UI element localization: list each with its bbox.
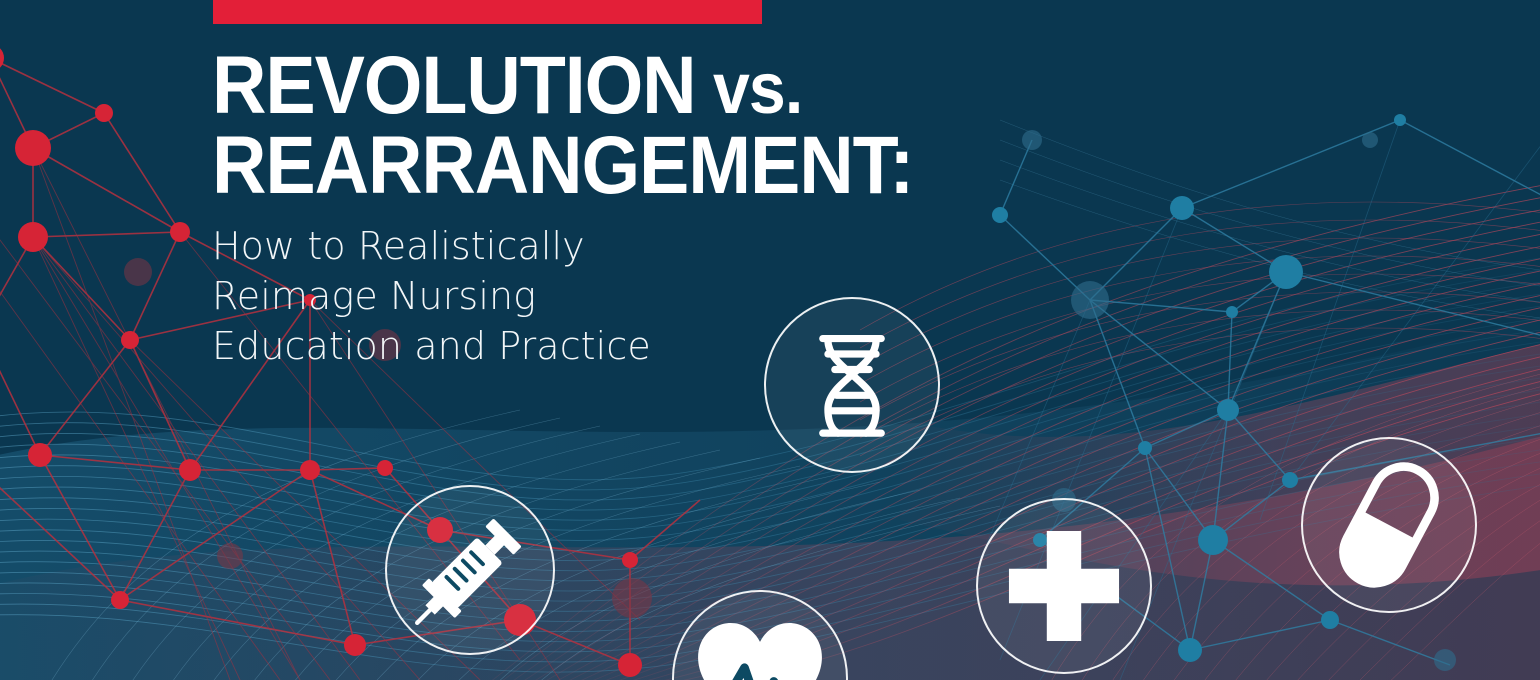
headline-revolution: REVOLUTION	[212, 40, 696, 131]
pill-capsule-icon-badge	[1301, 437, 1477, 613]
syringe-icon-badge	[385, 485, 555, 655]
heart-pulse-icon-badge	[672, 590, 848, 680]
subtitle-line-3: Education and Practice	[212, 321, 1212, 371]
title-block: REVOLUTION vs.REARRANGEMENT: How to Real…	[212, 46, 1212, 372]
headline-line-1: REVOLUTION vs.	[212, 46, 1132, 126]
page-subtitle: How to Realistically Reimage Nursing Edu…	[212, 221, 1212, 371]
subtitle-line-1: How to Realistically	[212, 221, 1212, 271]
medical-cross-icon-badge	[976, 498, 1152, 674]
headline-vs: vs.	[696, 49, 803, 129]
headline-line-2: REARRANGEMENT:	[212, 126, 1132, 206]
page-title: REVOLUTION vs.REARRANGEMENT:	[212, 46, 1132, 205]
heart-pulse-icon	[674, 592, 846, 680]
red-accent-bar	[213, 0, 762, 24]
subtitle-line-2: Reimage Nursing	[212, 271, 1212, 321]
pill-capsule-icon	[1303, 439, 1475, 611]
medical-cross-icon	[978, 500, 1150, 672]
syringe-icon	[387, 487, 553, 653]
infographic-header: REVOLUTION vs.REARRANGEMENT: How to Real…	[0, 0, 1540, 680]
